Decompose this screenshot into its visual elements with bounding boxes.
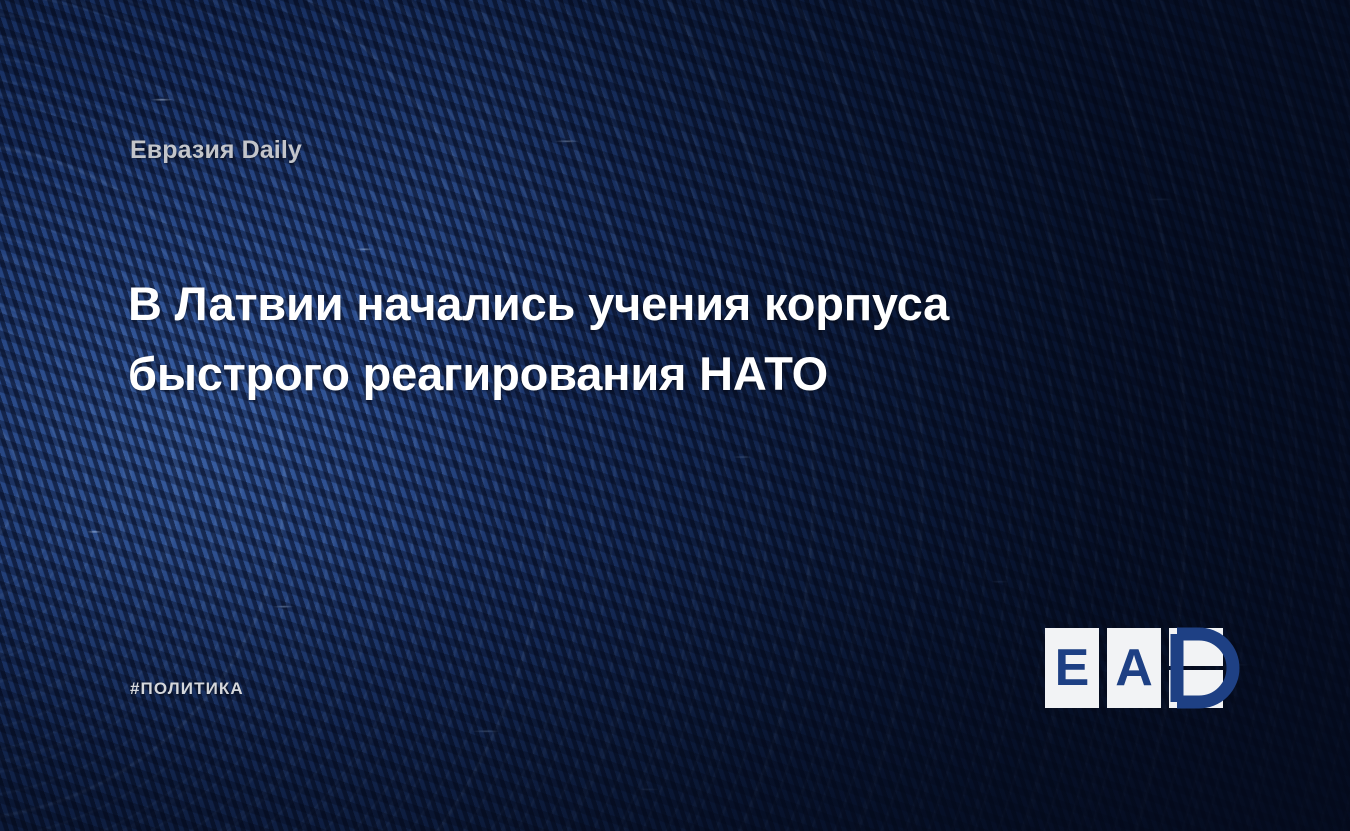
category-tag[interactable]: #ПОЛИТИКА [130,679,244,699]
eadaily-logo[interactable]: E A [1045,628,1225,708]
logo-tile-a: A [1107,628,1161,708]
brand-name: Евразия Daily [130,136,302,165]
logo-letter-a: A [1107,628,1161,708]
logo-letter-e: E [1045,628,1099,708]
card-content: Евразия Daily В Латвии начались учения к… [0,0,1350,831]
social-share-card: Евразия Daily В Латвии начались учения к… [0,0,1350,831]
headline-line-1: В Латвии начались учения корпуса [128,269,1128,339]
article-headline: В Латвии начались учения корпуса быстрог… [128,269,1128,408]
logo-tile-e: E [1045,628,1099,708]
headline-line-2: быстрого реагирования НАТО [128,339,1128,409]
logo-letter-d [1169,628,1247,708]
